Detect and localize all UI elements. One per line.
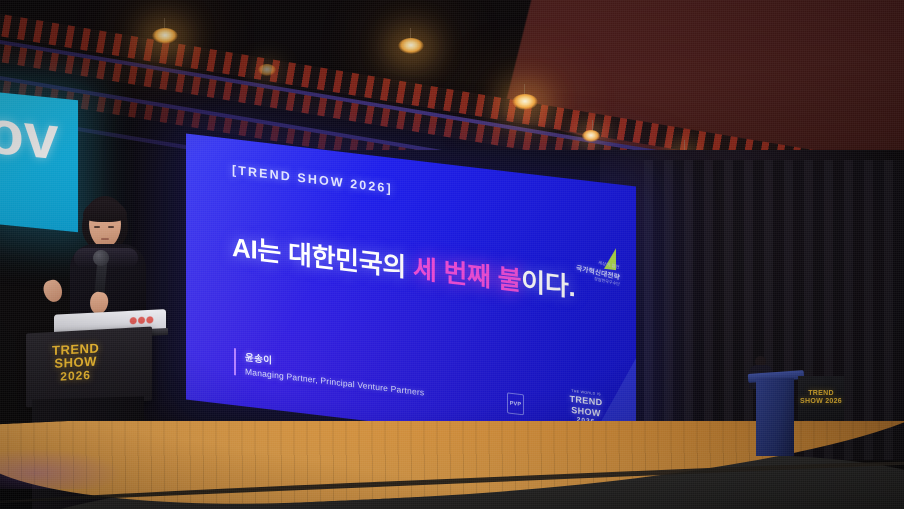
secondary-podium-sign: TREND SHOW 2026 xyxy=(798,376,844,420)
slide-speaker-credit: 윤송이 Managing Partner, Principal Venture … xyxy=(234,348,424,397)
podium-sign-line-3: 2026 xyxy=(52,368,99,383)
podium-face-panel: TREND SHOW 2026 xyxy=(26,327,152,408)
main-led-screen: [TREND SHOW 2026] AI는 대한민국의 세 번째 불이다. 윤송… xyxy=(186,133,636,452)
laptop-stickers xyxy=(128,315,154,326)
microphone-icon xyxy=(93,250,109,266)
stage-lamp xyxy=(582,130,600,142)
stage-photo: ov [TREND SHOW 2026] AI는 대한민국의 세 번째 불이다.… xyxy=(0,0,904,509)
eye-right xyxy=(108,226,114,228)
floor-purple-glow xyxy=(0,449,120,489)
secondary-podium: TREND SHOW 2026 xyxy=(742,356,858,456)
mouth xyxy=(101,238,109,240)
stage-lamp xyxy=(398,38,424,54)
stage-lamp xyxy=(258,64,276,76)
slide-kicker: [TREND SHOW 2026] xyxy=(232,163,393,196)
secondary-podium-body xyxy=(756,378,794,456)
headline-part-1: AI는 대한민국의 xyxy=(232,232,413,283)
secondary-screen-glyph: ov xyxy=(0,107,58,165)
secondary-podium-sign-text: TREND SHOW 2026 xyxy=(798,390,844,406)
slide-corner-badge: 세상이 없던 국가혁신대전략 창업한국구수단 xyxy=(534,237,630,300)
pvp-logo-mark: PVP xyxy=(507,392,524,415)
headline-accent: 세 번째 불 xyxy=(413,253,521,296)
pvp-logo-text: PVP xyxy=(510,400,522,407)
eye-left xyxy=(94,226,100,228)
stage-lamp xyxy=(152,28,178,44)
slide-headline: AI는 대한민국의 세 번째 불이다. xyxy=(232,227,575,305)
podium-sign: TREND SHOW 2026 xyxy=(52,341,99,382)
stage-lamp xyxy=(512,94,538,110)
presentation-slide: [TREND SHOW 2026] AI는 대한민국의 세 번째 불이다. 윤송… xyxy=(186,133,636,452)
